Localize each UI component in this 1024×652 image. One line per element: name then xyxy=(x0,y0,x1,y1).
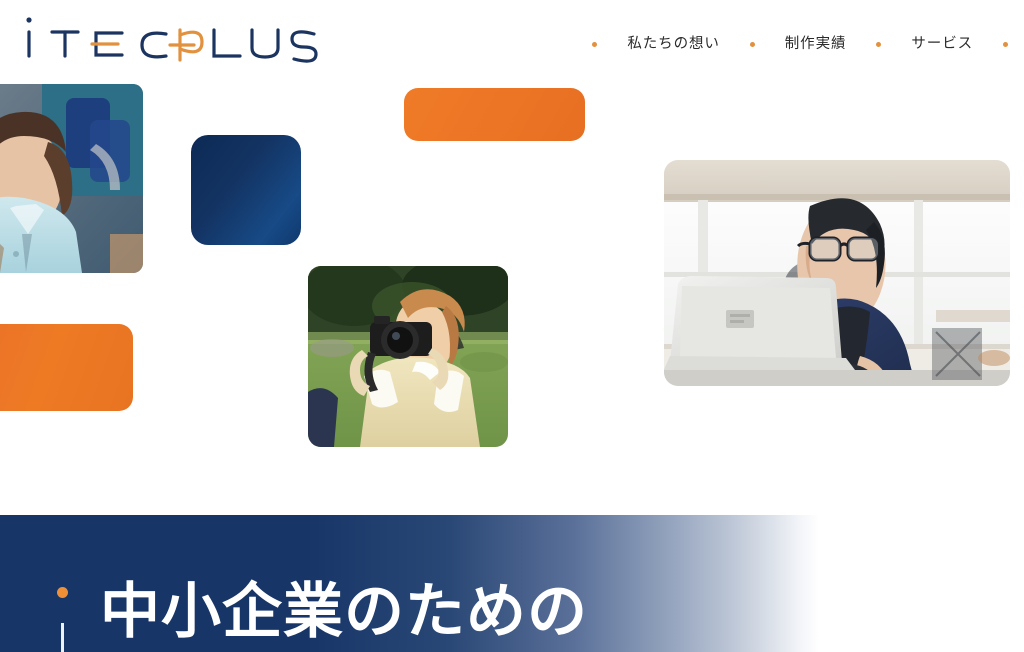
nav-item-services[interactable]: サービス xyxy=(881,34,1003,54)
orange-bar-top xyxy=(404,88,585,141)
site-logo[interactable] xyxy=(18,8,318,64)
photo-woman-camera-image xyxy=(308,266,508,447)
logo-dot-icon xyxy=(26,17,31,22)
hero-heading: 中小企業のための xyxy=(100,578,588,646)
site-header: 私たちの想い 制作実績 サービス xyxy=(0,0,1024,78)
page-root: 中小企業のための xyxy=(0,0,1024,652)
navy-rounded-square xyxy=(191,135,301,245)
photo-woman-camera xyxy=(308,266,508,447)
nav-separator-dot-icon xyxy=(1003,42,1008,47)
photo-man-laptop-image xyxy=(664,160,1010,386)
accent-line xyxy=(61,623,64,652)
photo-woman-polo-shirt-image xyxy=(0,84,143,273)
photo-man-laptop xyxy=(664,160,1010,386)
nav-item-our-thoughts[interactable]: 私たちの想い xyxy=(597,34,749,54)
accent-dot-icon xyxy=(57,587,68,598)
orange-bar-left xyxy=(0,324,133,411)
photo-woman-polo-shirt xyxy=(0,84,143,273)
logo-icon xyxy=(18,8,318,64)
nav-item-works[interactable]: 制作実績 xyxy=(755,34,877,54)
main-navigation: 私たちの想い 制作実績 サービス xyxy=(592,34,1008,54)
